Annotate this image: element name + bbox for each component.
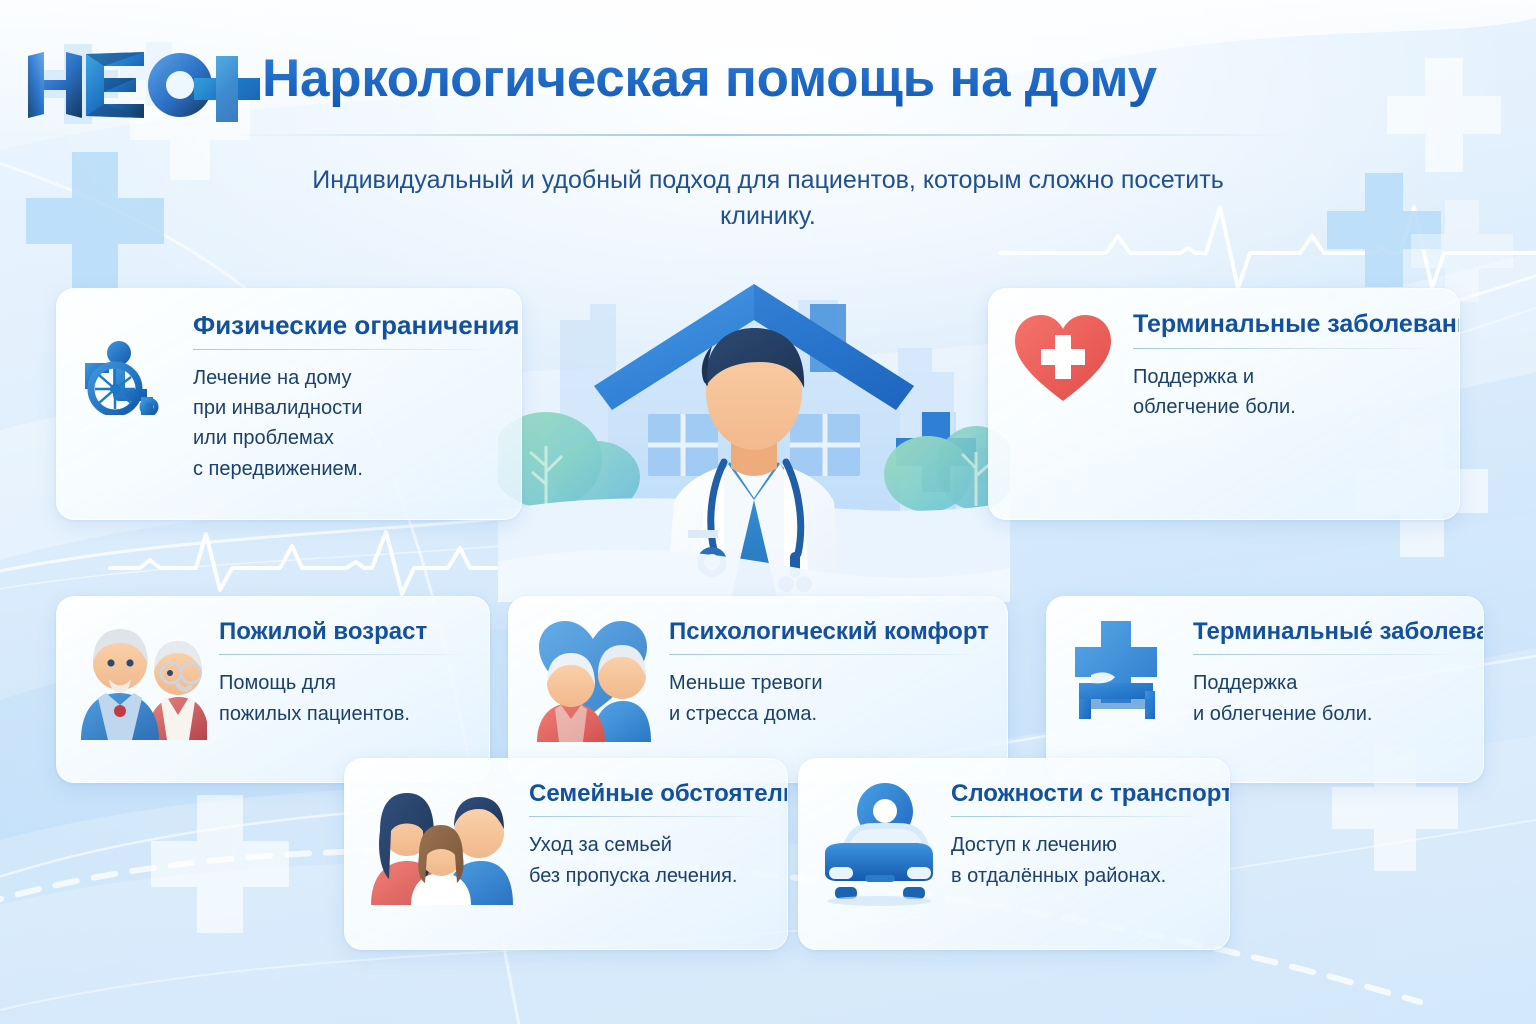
page-subtitle: Индивидуальный и удобный подход для паци… [268, 163, 1268, 234]
card-psychological-comfort[interactable]: Психологический комфорт Меньше тревогии … [508, 596, 1008, 783]
card-body: Уход за семьейбез пропуска лечения. [529, 830, 763, 891]
card-title: Пожилой возраст [219, 619, 465, 654]
heart-cross-icon [1011, 313, 1115, 499]
title-divider [230, 134, 1300, 136]
card-divider [669, 654, 983, 655]
card-body: Поддержкаи облегчение боли. [1193, 668, 1459, 729]
card-title: Терминальные́ заболевания [1193, 619, 1459, 654]
card-title: Сложности с транспортом [951, 781, 1205, 816]
card-body: Лечение на домупри инвалидностиили пробл… [193, 363, 497, 485]
card-divider [1193, 654, 1459, 655]
card-terminal-illness-bed[interactable]: Терминальные́ заболевания Поддержкаи обл… [1046, 596, 1484, 783]
card-terminal-illness-heart[interactable]: Терминальные заболевания Поддержка иобле… [988, 288, 1460, 520]
card-divider [529, 816, 763, 817]
elderly-couple-icon [79, 615, 207, 762]
card-body: Поддержка иоблегчение боли. [1133, 362, 1435, 423]
doctor-house-illustration [498, 262, 1010, 602]
card-divider [1133, 348, 1435, 349]
card-divider [219, 654, 465, 655]
car-location-pin-icon [821, 781, 937, 929]
card-title: Психологический комфорт [669, 619, 983, 654]
family-icon [367, 775, 519, 929]
card-family-circumstances[interactable]: Семейные обстоятельства Уход за семьейбе… [344, 758, 788, 950]
card-title: Физические ограничения [193, 311, 497, 349]
card-elderly-age[interactable]: Пожилой возраст Помощь дляпожилых пациен… [56, 596, 490, 783]
card-transport-difficulties[interactable]: Сложности с транспортом Доступ к лечению… [798, 758, 1230, 950]
card-divider [951, 816, 1205, 817]
heartbeat-line-left [110, 532, 500, 594]
hospital-bed-cross-icon [1069, 615, 1179, 762]
card-title: Семейные обстоятельства [529, 781, 763, 816]
wheelchair-icon [79, 311, 177, 499]
card-physical-limitations[interactable]: Физические ограничения Лечение на домупр… [56, 288, 522, 520]
infographic-canvas: Наркологическая помощь на дому Индивидуа… [0, 0, 1536, 1024]
two-people-heart-icon [531, 617, 655, 762]
card-body: Доступ к лечениюв отдалённых районах. [951, 830, 1205, 891]
card-body: Помощь дляпожилых пациентов. [219, 668, 465, 729]
card-divider [193, 349, 497, 350]
card-title: Терминальные заболевания [1133, 311, 1435, 348]
page-title: Наркологическая помощь на дому [262, 48, 1157, 109]
brand-logo[interactable] [22, 42, 262, 128]
card-body: Меньше тревогии стресса дома. [669, 668, 983, 729]
